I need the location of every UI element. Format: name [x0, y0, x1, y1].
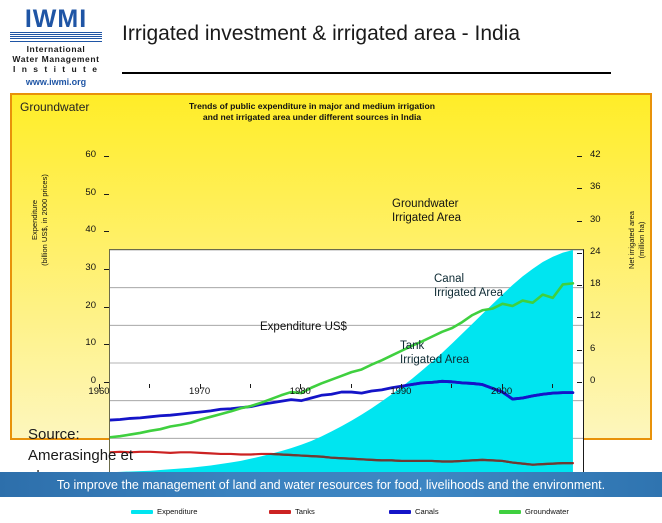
x-axis-minor-tickmark-1975: [250, 384, 251, 388]
legend-label-canals: Canals: [415, 507, 439, 516]
legend-label-tanks: Tanks: [295, 507, 315, 516]
chart-annotation-1: GroundwaterIrrigated Area: [392, 197, 461, 225]
y-axis-left-title-line-1: Expenditure: [30, 160, 40, 280]
title-underline: [122, 72, 611, 74]
legend-item-tanks[interactable]: Tanks: [269, 507, 315, 516]
y-axis-right-tick-6: 6: [590, 343, 616, 354]
chart-title: Trends of public expenditure in major an…: [132, 101, 492, 123]
legend-item-groundwater[interactable]: Groundwater: [499, 507, 569, 516]
page-title: Irrigated investment & irrigated area - …: [122, 22, 622, 46]
legend-swatch-expenditure: [131, 510, 153, 514]
x-axis-tickmark-1960: [99, 384, 100, 389]
x-axis-tickmark-1990: [401, 384, 402, 389]
logo-line-water-management: Water Management: [8, 54, 104, 64]
legend-item-expenditure[interactable]: Expenditure: [131, 507, 198, 516]
y-axis-left-tick-0: 0: [70, 375, 96, 386]
legend-label-groundwater: Groundwater: [525, 507, 569, 516]
y-axis-left-tickmark-0: [104, 382, 109, 383]
x-axis-minor-tickmark-2005: [552, 384, 553, 388]
y-axis-right-tick-12: 12: [590, 310, 616, 321]
panel-tag-groundwater: Groundwater: [20, 100, 89, 114]
logo-wordmark: IWMI: [8, 6, 104, 32]
y-axis-left-tick-60: 60: [70, 149, 96, 160]
chart-legend: ExpenditureTanksCanalsGroundwater: [109, 507, 584, 523]
y-axis-left-tick-40: 40: [70, 224, 96, 235]
y-axis-left-tickmark-20: [104, 307, 109, 308]
chart-annotation-2-line-2: Irrigated Area: [434, 286, 503, 300]
x-axis-tickmark-2000: [502, 384, 503, 389]
y-axis-right-tickmark-12: [577, 317, 582, 318]
y-axis-right-tick-30: 30: [590, 214, 616, 225]
slide-header: IWMI International Water Management I n …: [0, 0, 662, 88]
y-axis-left-tickmark-30: [104, 269, 109, 270]
legend-swatch-groundwater: [499, 510, 521, 514]
y-axis-left-tick-10: 10: [70, 337, 96, 348]
y-axis-right-tickmark-30: [577, 221, 582, 222]
chart-title-line-2: and net irrigated area under different s…: [132, 112, 492, 123]
chart-annotation-2: CanalIrrigated Area: [434, 272, 503, 300]
logo-url: www.iwmi.org: [8, 77, 104, 87]
y-axis-left-tick-20: 20: [70, 300, 96, 311]
y-axis-right-tick-42: 42: [590, 149, 616, 160]
source-line-2: Amerasinghe et: [28, 445, 188, 466]
y-axis-right-tickmark-18: [577, 285, 582, 286]
y-axis-left-title: Expenditure (billion US$, in 2000 prices…: [30, 160, 50, 280]
legend-item-canals[interactable]: Canals: [389, 507, 439, 516]
y-axis-right-title-line-2: (million ha): [637, 185, 647, 295]
y-axis-left-tick-50: 50: [70, 187, 96, 198]
chart-annotation-3-line-2: Irrigated Area: [400, 353, 469, 367]
chart-annotation-2-line-1: Canal: [434, 272, 503, 286]
y-axis-right-title-line-1: Net irrigated area: [627, 185, 637, 295]
legend-label-expenditure: Expenditure: [157, 507, 198, 516]
y-axis-left-tickmark-50: [104, 194, 109, 195]
logo-divider: [10, 41, 102, 42]
x-axis-tickmark-1970: [200, 384, 201, 389]
y-axis-left-title-line-2: (billion US$, in 2000 prices): [40, 160, 50, 280]
y-axis-right-tickmark-0: [577, 382, 582, 383]
chart-panel: Groundwater Trends of public expenditure…: [10, 93, 652, 440]
y-axis-right-tickmark-42: [577, 156, 582, 157]
y-axis-right-tickmark-36: [577, 188, 582, 189]
y-axis-left-tickmark-10: [104, 344, 109, 345]
legend-swatch-canals: [389, 510, 411, 514]
chart-annotation-4-line-1: Expenditure US$: [260, 320, 347, 334]
chart-annotation-1-line-2: Irrigated Area: [392, 211, 461, 225]
y-axis-right-tick-36: 36: [590, 181, 616, 192]
x-axis-minor-tickmark-1995: [451, 384, 452, 388]
source-line-1: Source:: [28, 424, 188, 445]
chart-title-line-1: Trends of public expenditure in major an…: [132, 101, 492, 112]
x-axis-tickmark-1980: [300, 384, 301, 389]
y-axis-right-tick-18: 18: [590, 278, 616, 289]
y-axis-right-tick-24: 24: [590, 246, 616, 257]
y-axis-right-tickmark-6: [577, 350, 582, 351]
y-axis-right-title: Net irrigated area (million ha): [627, 185, 647, 295]
chart-annotation-3: TankIrrigated Area: [400, 339, 469, 367]
x-axis-minor-tickmark-1985: [351, 384, 352, 388]
iwmi-logo: IWMI International Water Management I n …: [8, 6, 104, 87]
y-axis-left-tickmark-40: [104, 231, 109, 232]
chart-annotation-4: Expenditure US$: [260, 320, 347, 334]
y-axis-left-tickmark-60: [104, 156, 109, 157]
chart-annotation-3-line-1: Tank: [400, 339, 469, 353]
tagline-banner: To improve the management of land and wa…: [0, 472, 662, 497]
y-axis-left-tick-30: 30: [70, 262, 96, 273]
y-axis-right-tick-0: 0: [590, 375, 616, 386]
y-axis-right-tickmark-24: [577, 253, 582, 254]
legend-swatch-tanks: [269, 510, 291, 514]
logo-line-institute: I n s t i t u t e: [8, 64, 104, 74]
x-axis-minor-tickmark-1965: [149, 384, 150, 388]
logo-line-international: International: [8, 44, 104, 54]
chart-annotation-1-line-1: Groundwater: [392, 197, 461, 211]
logo-wave-icon: [10, 32, 102, 40]
